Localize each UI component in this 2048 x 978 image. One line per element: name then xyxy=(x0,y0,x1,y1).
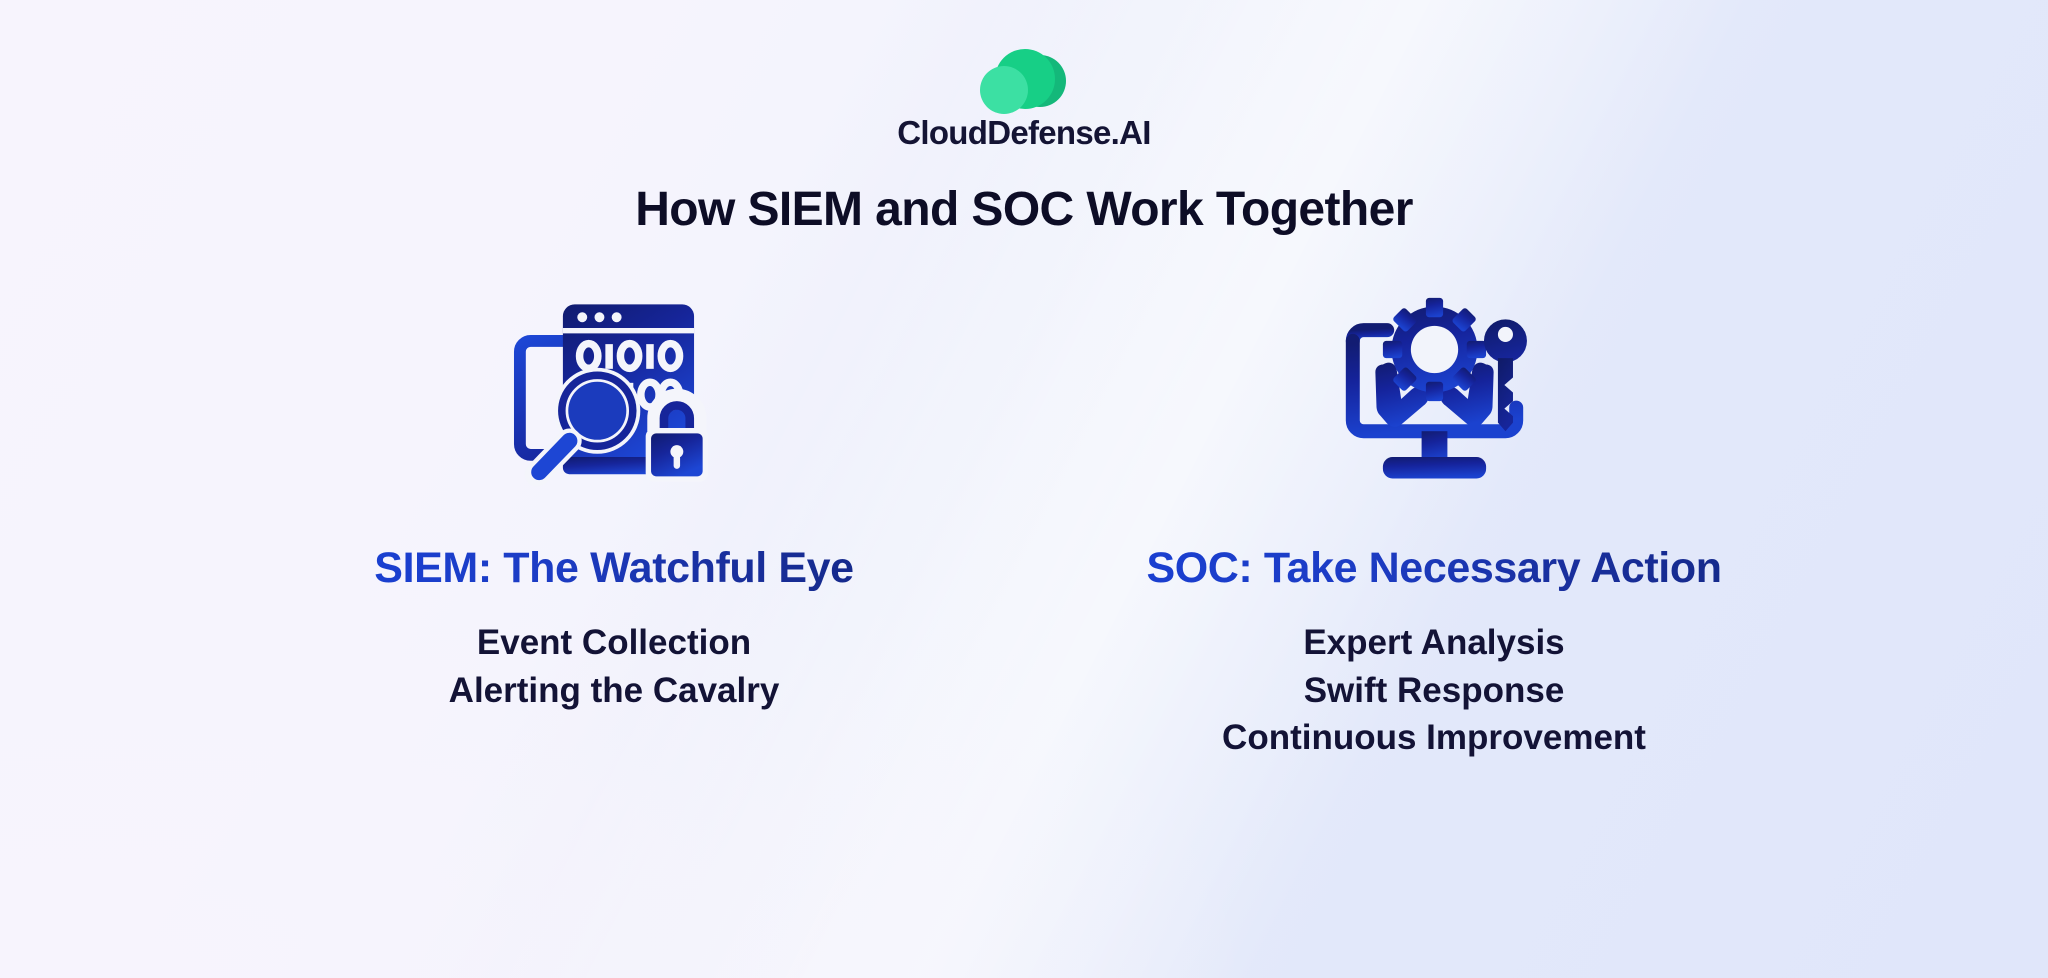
soc-icon-svg xyxy=(1327,285,1542,500)
column-soc: SOC: Take Necessary Action Expert Analys… xyxy=(1054,285,1814,762)
item-list-soc: Expert Analysis Swift Response Continuou… xyxy=(1222,619,1646,762)
infographic-canvas: CloudDefense.AI How SIEM and SOC Work To… xyxy=(0,0,2048,978)
browser-dot xyxy=(611,312,621,322)
list-item: Swift Response xyxy=(1222,667,1646,715)
columns-container: SIEM: The Watchful Eye Event Collection … xyxy=(0,285,2048,762)
gear-icon xyxy=(1382,298,1485,401)
siem-icon-svg xyxy=(507,285,722,500)
list-item: Expert Analysis xyxy=(1222,619,1646,667)
column-heading-soc: SOC: Take Necessary Action xyxy=(1146,544,1721,593)
list-item: Continuous Improvement xyxy=(1222,714,1646,762)
page-title: How SIEM and SOC Work Together xyxy=(0,182,2048,237)
brand-logo: CloudDefense.AI xyxy=(0,52,2048,152)
cloud-logo-icon xyxy=(976,52,1072,108)
list-item: Alerting the Cavalry xyxy=(449,667,780,715)
cloud-logo-blob-front xyxy=(980,66,1028,114)
column-heading-siem: SIEM: The Watchful Eye xyxy=(374,544,853,593)
browser-dot xyxy=(594,312,604,322)
browser-dot xyxy=(577,312,587,322)
column-siem: SIEM: The Watchful Eye Event Collection … xyxy=(234,285,994,762)
item-list-siem: Event Collection Alerting the Cavalry xyxy=(449,619,780,714)
brand-name: CloudDefense.AI xyxy=(897,114,1151,152)
monitoring-magnifier-lock-icon xyxy=(507,285,722,500)
list-item: Event Collection xyxy=(449,619,780,667)
monitor-hands-gear-key-icon xyxy=(1327,285,1542,500)
